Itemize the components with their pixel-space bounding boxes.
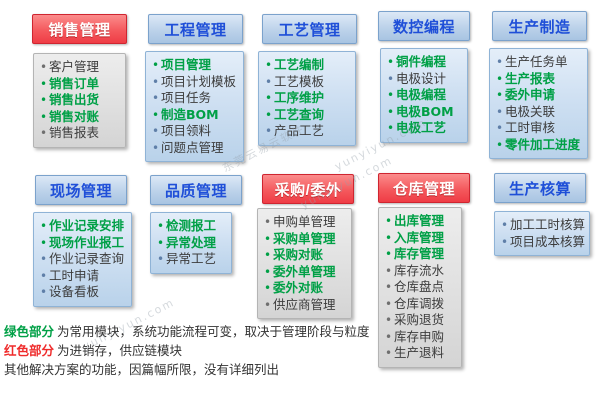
bullet-icon: • [495, 71, 504, 88]
list-item[interactable]: •采购对账 [263, 247, 347, 264]
list-item[interactable]: •异常工艺 [156, 251, 227, 268]
list-item[interactable]: •工艺查询 [264, 107, 351, 124]
list-item[interactable]: •库存管理 [384, 246, 457, 263]
legend-key-red: 红色部分 [4, 341, 54, 360]
bullet-icon: • [264, 107, 273, 124]
bullet-icon: • [39, 284, 48, 301]
list-item[interactable]: •销售报表 [39, 125, 121, 142]
bullet-icon: • [39, 59, 48, 76]
list-item[interactable]: •异常处理 [156, 235, 227, 252]
module-panel-manufacturing: •生产任务单 •生产报表 •委外申请 •电极关联 •工时审核 •零件加工进度 [489, 48, 588, 159]
module-panel-purchasing: •申购单管理 •采购单管理 •采购对账 •委外单管理 •委外对账 •供应商管理 [257, 208, 352, 319]
list-item[interactable]: •销售订单 [39, 76, 121, 93]
list-item[interactable]: •销售对账 [39, 109, 121, 126]
module-panel-cnc: •铜件编程 •电极设计 •电极编程 •电极BOM •电极工艺 [380, 48, 468, 143]
module-panel-warehouse: •出库管理 •入库管理 •库存管理 •库存流水 •仓库盘点 •仓库调拨 •采购退… [378, 207, 462, 368]
module-header-purchasing[interactable]: 采购/委外 [262, 174, 354, 204]
module-item-list: •工艺编制 •工艺模板 •工序维护 •工艺查询 •产品工艺 [264, 57, 351, 140]
module-panel-quality: •检测报工 •异常处理 •异常工艺 [150, 212, 232, 274]
bullet-icon: • [495, 87, 504, 104]
module-item-list: •生产任务单 •生产报表 •委外申请 •电极关联 •工时审核 •零件加工进度 [495, 54, 583, 153]
bullet-icon: • [263, 280, 272, 297]
bullet-icon: • [39, 76, 48, 93]
list-item[interactable]: •零件加工进度 [495, 137, 583, 154]
legend-key-green: 绿色部分 [4, 322, 54, 341]
legend-text: 为常用模块，系统功能流程可变，取决于管理阶段与粒度 [57, 322, 370, 341]
module-header-warehouse[interactable]: 仓库管理 [378, 173, 470, 203]
list-item[interactable]: •仓库盘点 [384, 279, 457, 296]
list-item[interactable]: •仓库调拨 [384, 296, 457, 313]
list-item[interactable]: •项目管理 [151, 57, 239, 74]
bullet-icon: • [264, 90, 273, 107]
bullet-icon: • [264, 57, 273, 74]
bullet-icon: • [384, 312, 393, 329]
list-item[interactable]: •工艺编制 [264, 57, 351, 74]
list-item[interactable]: •工时审核 [495, 120, 583, 137]
list-item[interactable]: •销售出货 [39, 92, 121, 109]
bullet-icon: • [500, 234, 509, 251]
module-item-list: •客户管理 •销售订单 •销售出货 •销售对账 •销售报表 [39, 59, 121, 142]
list-item[interactable]: •项目计划模板 [151, 74, 239, 91]
module-item-list: •检测报工 •异常处理 •异常工艺 [156, 218, 227, 268]
bullet-icon: • [151, 140, 160, 157]
bullet-icon: • [384, 279, 393, 296]
bullet-icon: • [264, 123, 273, 140]
list-item[interactable]: •设备看板 [39, 284, 127, 301]
list-item[interactable]: •电极工艺 [386, 120, 463, 137]
module-header-costing[interactable]: 生产核算 [494, 173, 586, 203]
bullet-icon: • [384, 246, 393, 263]
module-item-list: •申购单管理 •采购单管理 •采购对账 •委外单管理 •委外对账 •供应商管理 [263, 214, 347, 313]
bullet-icon: • [263, 214, 272, 231]
module-header-quality[interactable]: 品质管理 [150, 175, 242, 205]
bullet-icon: • [151, 90, 160, 107]
list-item[interactable]: •电极关联 [495, 104, 583, 121]
list-item[interactable]: •库存申购 [384, 329, 457, 346]
module-header-shopfloor[interactable]: 现场管理 [35, 175, 127, 205]
list-item[interactable]: •出库管理 [384, 213, 457, 230]
module-panel-sales: •客户管理 •销售订单 •销售出货 •销售对账 •销售报表 [33, 53, 126, 148]
list-item[interactable]: •作业记录安排 [39, 218, 127, 235]
legend-text: 其他解决方案的功能，因篇幅所限，没有详细列出 [4, 360, 279, 379]
module-item-list: •作业记录安排 •现场作业报工 •作业记录查询 •工时申请 •设备看板 [39, 218, 127, 301]
bullet-icon: • [151, 74, 160, 91]
bullet-icon: • [386, 120, 395, 137]
list-item[interactable]: •生产退料 [384, 345, 457, 362]
module-header-cnc[interactable]: 数控编程 [378, 11, 470, 41]
list-item[interactable]: •项目成本核算 [500, 234, 585, 251]
bullet-icon: • [386, 87, 395, 104]
list-item[interactable]: •电极BOM [386, 104, 463, 121]
list-item[interactable]: •生产报表 [495, 71, 583, 88]
module-item-list: •加工工时核算 •项目成本核算 [500, 217, 585, 250]
module-header-manufacturing[interactable]: 生产制造 [492, 11, 587, 41]
module-item-list: •铜件编程 •电极设计 •电极编程 •电极BOM •电极工艺 [386, 54, 463, 137]
list-item[interactable]: •生产任务单 [495, 54, 583, 71]
list-item[interactable]: •申购单管理 [263, 214, 347, 231]
bullet-icon: • [384, 263, 393, 280]
bullet-icon: • [384, 329, 393, 346]
list-item[interactable]: •现场作业报工 [39, 235, 127, 252]
bullet-icon: • [151, 57, 160, 74]
legend-row: 其他解决方案的功能，因篇幅所限，没有详细列出 [4, 360, 370, 379]
list-item[interactable]: •电极编程 [386, 87, 463, 104]
module-item-list: •出库管理 •入库管理 •库存管理 •库存流水 •仓库盘点 •仓库调拨 •采购退… [384, 213, 457, 362]
bullet-icon: • [264, 74, 273, 91]
bullet-icon: • [386, 104, 395, 121]
list-item[interactable]: •工时申请 [39, 268, 127, 285]
bullet-icon: • [151, 123, 160, 140]
module-panel-shopfloor: •作业记录安排 •现场作业报工 •作业记录查询 •工时申请 •设备看板 [33, 212, 132, 307]
list-item[interactable]: •产品工艺 [264, 123, 351, 140]
list-item[interactable]: •电极设计 [386, 71, 463, 88]
bullet-icon: • [39, 125, 48, 142]
bullet-icon: • [384, 213, 393, 230]
bullet-icon: • [156, 218, 165, 235]
bullet-icon: • [263, 247, 272, 264]
list-item[interactable]: •委外单管理 [263, 264, 347, 281]
list-item[interactable]: •作业记录查询 [39, 251, 127, 268]
list-item[interactable]: •工序维护 [264, 90, 351, 107]
module-header-process[interactable]: 工艺管理 [262, 14, 357, 44]
bullet-icon: • [263, 264, 272, 281]
list-item[interactable]: •库存流水 [384, 263, 457, 280]
bullet-icon: • [151, 107, 160, 124]
bullet-icon: • [495, 137, 504, 154]
list-item[interactable]: •入库管理 [384, 230, 457, 247]
module-item-list: •项目管理 •项目计划模板 •项目任务 •制造BOM •项目领料 •问题点管理 [151, 57, 239, 156]
legend-row: 红色部分 为进销存，供应链模块 [4, 341, 370, 360]
bullet-icon: • [263, 231, 272, 248]
legend: 绿色部分 为常用模块，系统功能流程可变，取决于管理阶段与粒度 红色部分 为进销存… [4, 322, 370, 379]
bullet-icon: • [384, 230, 393, 247]
list-item[interactable]: •供应商管理 [263, 297, 347, 314]
list-item[interactable]: •加工工时核算 [500, 217, 585, 234]
module-panel-engineering: •项目管理 •项目计划模板 •项目任务 •制造BOM •项目领料 •问题点管理 [145, 51, 244, 162]
list-item[interactable]: •采购退货 [384, 312, 457, 329]
module-header-engineering[interactable]: 工程管理 [148, 14, 243, 44]
bullet-icon: • [39, 268, 48, 285]
bullet-icon: • [156, 235, 165, 252]
bullet-icon: • [39, 109, 48, 126]
list-item[interactable]: •工艺模板 [264, 74, 351, 91]
bullet-icon: • [495, 104, 504, 121]
list-item[interactable]: •问题点管理 [151, 140, 239, 157]
bullet-icon: • [495, 54, 504, 71]
bullet-icon: • [39, 251, 48, 268]
list-item[interactable]: •检测报工 [156, 218, 227, 235]
list-item[interactable]: •采购单管理 [263, 231, 347, 248]
bullet-icon: • [39, 218, 48, 235]
list-item[interactable]: •制造BOM [151, 107, 239, 124]
list-item[interactable]: •委外申请 [495, 87, 583, 104]
list-item[interactable]: •项目领料 [151, 123, 239, 140]
module-panel-process: •工艺编制 •工艺模板 •工序维护 •工艺查询 •产品工艺 [258, 51, 356, 146]
bullet-icon: • [39, 235, 48, 252]
bullet-icon: • [500, 217, 509, 234]
module-map-board: 销售管理 •客户管理 •销售订单 •销售出货 •销售对账 •销售报表 工程管理 … [0, 0, 600, 400]
bullet-icon: • [495, 120, 504, 137]
legend-row: 绿色部分 为常用模块，系统功能流程可变，取决于管理阶段与粒度 [4, 322, 370, 341]
bullet-icon: • [263, 297, 272, 314]
bullet-icon: • [39, 92, 48, 109]
list-item[interactable]: •项目任务 [151, 90, 239, 107]
list-item[interactable]: •委外对账 [263, 280, 347, 297]
bullet-icon: • [156, 251, 165, 268]
module-header-sales[interactable]: 销售管理 [32, 14, 127, 44]
module-panel-costing: •加工工时核算 •项目成本核算 [494, 211, 590, 256]
bullet-icon: • [386, 54, 395, 71]
bullet-icon: • [384, 296, 393, 313]
list-item[interactable]: •铜件编程 [386, 54, 463, 71]
legend-text: 为进销存，供应链模块 [57, 341, 182, 360]
bullet-icon: • [386, 71, 395, 88]
list-item[interactable]: •客户管理 [39, 59, 121, 76]
bullet-icon: • [384, 345, 393, 362]
